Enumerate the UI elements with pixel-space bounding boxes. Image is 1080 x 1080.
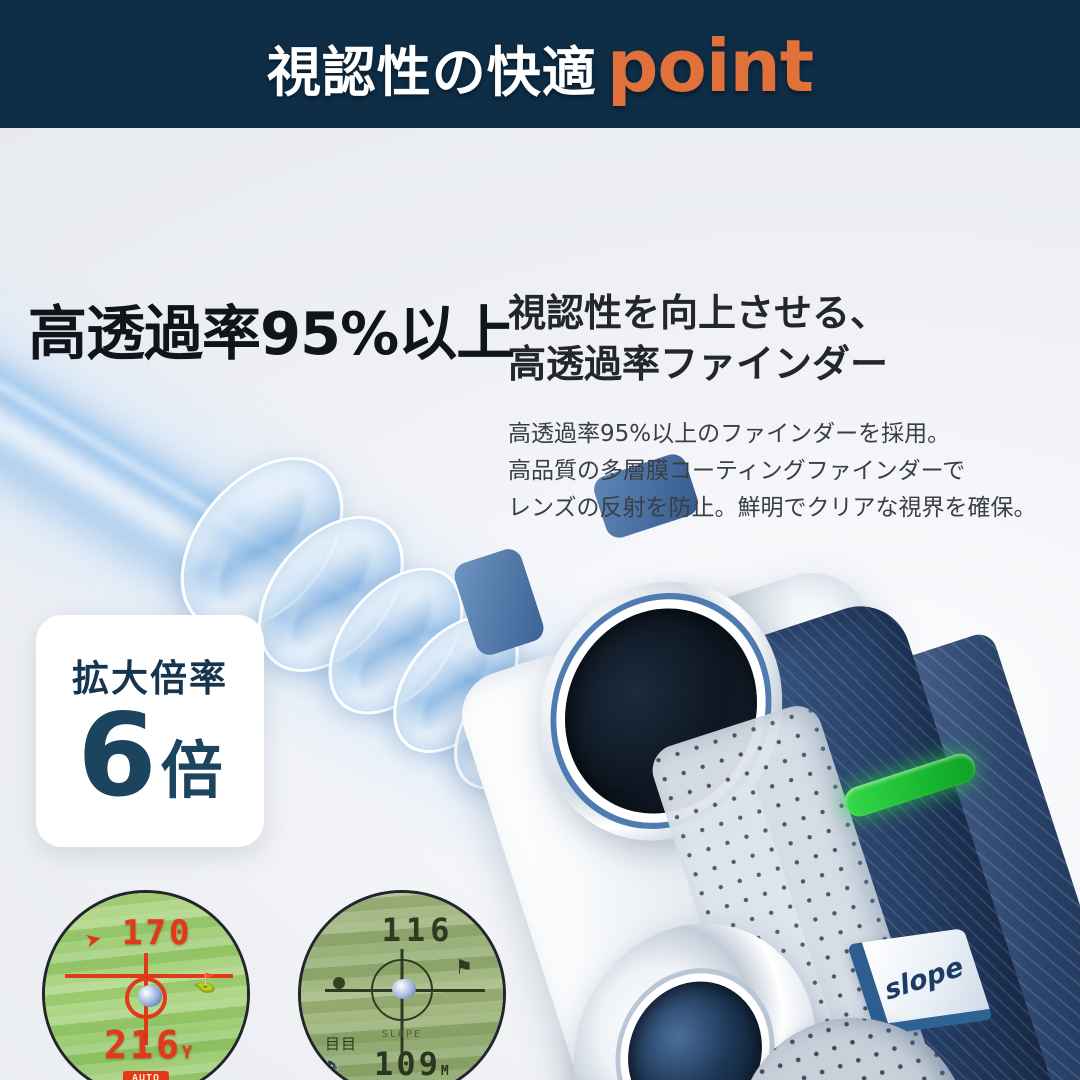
- header-banner: 視認性の快適 point: [0, 0, 1080, 128]
- dormie-top-distance: 170: [122, 913, 192, 953]
- product-feature-page: 視認性の快適 point slope: [0, 0, 1080, 1080]
- body-copy-line-2: 高品質の多層膜コーティングファインダーで: [508, 453, 1068, 490]
- magnification-value-group: 6 倍: [77, 704, 222, 809]
- magnification-unit: 倍: [161, 740, 223, 802]
- dormie-mode-badge: AUTO: [123, 1071, 169, 1080]
- dormie-distance-unit: Y: [182, 1043, 195, 1063]
- body-copy-line-3: レンズの反射を防止。鮮明でクリアな視界を確保。: [508, 490, 1068, 527]
- header-title-english: point: [607, 24, 813, 108]
- right-text-column: 視認性を向上させる、 高透過率ファインダー 高透過率95%以上のファインダーを採…: [508, 288, 1068, 528]
- laser-lens-glass: [610, 959, 779, 1080]
- viewfinder-dormie: 170 ➤ ⛳ 216Y AUTO: [42, 890, 250, 1080]
- product-photo: slope LASER 高透過率95%以上 視認性を向上させる、 高透過率ファイ…: [0, 128, 1080, 1080]
- flag-icon: ⚑: [455, 955, 473, 980]
- competitor-mode-icons: 目目: [325, 1033, 357, 1054]
- competitor-bottom-distance-value: 109: [374, 1045, 441, 1080]
- competitor-top-distance: 116: [382, 911, 455, 949]
- competitor-distance-unit: M: [441, 1064, 452, 1079]
- body-copy: 高透過率95%以上のファインダーを採用。 高品質の多層膜コーティングファインダー…: [508, 416, 1068, 528]
- magnification-number: 6: [77, 704, 156, 809]
- dormie-bottom-distance-value: 216: [104, 1023, 182, 1067]
- subheading-line-1: 視認性を向上させる、: [508, 288, 1068, 339]
- viewfinder-dormie-overlay: 170 ➤ ⛳ 216Y AUTO: [45, 893, 247, 1080]
- header-title-group: 視認性の快適 point: [267, 24, 813, 108]
- body-copy-line-1: 高透過率95%以上のファインダーを採用。: [508, 416, 1068, 453]
- subheading: 視認性を向上させる、 高透過率ファインダー: [508, 288, 1068, 390]
- golf-ball-icon: [392, 979, 416, 999]
- speaker-icon: 🔈: [323, 1055, 343, 1075]
- viewfinder-competitor-overlay: 116 ⚑ 目目 🔈 SLOPE 109M 86%: [301, 893, 503, 1080]
- viewfinder-competitor: 116 ⚑ 目目 🔈 SLOPE 109M 86%: [298, 890, 506, 1080]
- competitor-dot-marker: [333, 977, 345, 989]
- headline-transmittance: 高透過率95%以上: [28, 286, 514, 371]
- rangefinder-device: slope LASER: [470, 458, 1080, 1080]
- competitor-bottom-distance: 109M: [374, 1045, 452, 1080]
- bird-icon: ➤: [83, 926, 105, 954]
- header-title-japanese: 視認性の快適: [267, 28, 597, 107]
- dormie-bottom-distance: 216Y: [104, 1023, 195, 1067]
- subheading-line-2: 高透過率ファインダー: [508, 339, 1068, 390]
- competitor-tiny-label: SLOPE: [382, 1029, 422, 1040]
- magnification-card: 拡大倍率 6 倍: [36, 615, 264, 847]
- golf-ball-icon: [138, 985, 162, 1007]
- flag-icon: ⛳: [193, 971, 217, 995]
